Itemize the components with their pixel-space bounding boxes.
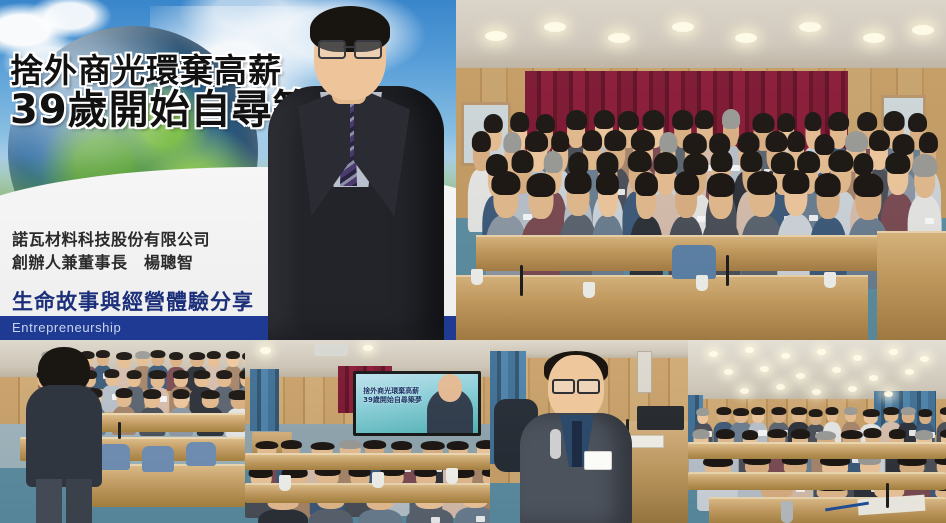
person-hair — [828, 112, 849, 131]
person-head — [116, 390, 131, 407]
person-head — [817, 178, 840, 219]
paper-cup-2 — [583, 282, 595, 298]
poster-panel: 捨外商光環棄高薪 39歲開始自尋築夢 諾瓦材料科技股份有限公司 創辦人兼董事長 … — [0, 0, 456, 340]
bl-chair-3 — [186, 442, 215, 466]
person-hair — [511, 112, 529, 131]
person-hair — [863, 409, 880, 417]
person-hair — [310, 442, 334, 451]
wall-switch-plate — [637, 351, 653, 393]
person-hair — [672, 110, 692, 129]
person-head — [697, 410, 709, 424]
person-hair — [421, 441, 445, 450]
name-badge — [431, 517, 440, 523]
person-hair — [149, 370, 166, 379]
br-bottle — [781, 501, 793, 523]
person-head — [902, 409, 915, 423]
person-hair — [525, 131, 548, 152]
side-desk — [877, 231, 946, 340]
person-hair — [226, 351, 240, 359]
guest-speaker-closeup — [516, 355, 636, 523]
person-hair — [752, 113, 774, 132]
person-head — [190, 353, 204, 367]
person-hair — [642, 110, 664, 129]
person-hair — [566, 110, 587, 129]
person-hair — [841, 430, 862, 440]
person-head — [128, 372, 141, 387]
person-head — [772, 409, 785, 423]
bottom-right-panel — [688, 340, 946, 523]
person-hair — [918, 409, 931, 417]
person-hair — [883, 111, 905, 130]
person-hair — [710, 150, 732, 172]
person-head — [784, 175, 807, 216]
person-head — [752, 409, 764, 423]
person-hair — [511, 150, 533, 172]
bottom-middle-panel: 捨外商光環棄高薪 39歲開始自尋築夢 — [245, 340, 490, 523]
person-hair — [596, 171, 619, 195]
desk-microphone-2 — [726, 255, 729, 286]
person-hair — [683, 133, 707, 154]
person-hair — [476, 440, 490, 449]
person-hair — [127, 370, 142, 379]
person-head — [528, 178, 553, 219]
person-hair — [116, 352, 132, 360]
paper-cup-3 — [696, 275, 708, 291]
person-head — [826, 408, 837, 422]
desk-microphone-1 — [520, 265, 523, 296]
person-hair — [143, 389, 161, 399]
br-desk-microphone — [886, 483, 889, 509]
person-head — [117, 354, 131, 368]
person-hair — [173, 370, 189, 379]
person-hair — [751, 407, 765, 415]
person-hair — [281, 440, 302, 449]
person-hair — [363, 440, 386, 449]
person-hair — [815, 431, 836, 441]
person-head — [174, 372, 188, 387]
person-head — [227, 353, 239, 367]
person-head — [864, 410, 878, 424]
person-hair — [742, 430, 758, 440]
person-hair — [169, 352, 183, 360]
speaker-role-name: 創辦人兼董事長 楊聰智 — [12, 251, 210, 274]
person-hair — [805, 112, 822, 131]
office-chair — [672, 245, 716, 279]
person-hair — [844, 407, 858, 415]
person-hair — [392, 441, 413, 450]
speaker-back-leg-right — [66, 479, 92, 523]
person-head — [105, 371, 118, 386]
person-hair — [491, 171, 520, 195]
person-head — [856, 178, 881, 219]
bottom-left-panel — [0, 340, 245, 523]
person-head — [792, 408, 806, 422]
person-head — [493, 176, 518, 217]
person-hair — [782, 170, 809, 194]
bm-paper-cup-1 — [279, 475, 291, 491]
person-hair — [256, 441, 278, 450]
person-hair — [565, 170, 592, 194]
person-hair — [193, 370, 211, 379]
portrait-glasses-icon — [318, 40, 382, 56]
person-hair — [115, 388, 132, 398]
footer-label: Entrepreneurship — [12, 320, 121, 335]
organization-name: 諾瓦材料科技股份有限公司 — [12, 228, 210, 251]
group-photo-panel — [456, 0, 946, 340]
photo-collage: 捨外商光環棄高薪 39歲開始自尋築夢 諾瓦材料科技股份有限公司 創辦人兼董事長 … — [0, 0, 946, 523]
person-head — [914, 159, 936, 198]
bm-paper-cup-3 — [446, 468, 458, 484]
person-hair — [594, 110, 615, 129]
person-head — [566, 175, 589, 216]
person-head — [709, 178, 733, 219]
name-badge — [476, 516, 485, 522]
person-body — [258, 509, 308, 523]
person-head — [144, 391, 160, 408]
person-head — [174, 391, 189, 408]
person-head — [887, 156, 908, 195]
person-hair — [206, 351, 220, 359]
speaker-back-view — [22, 347, 106, 523]
person-hair — [544, 151, 563, 173]
person-hair — [716, 429, 735, 439]
person-hair — [767, 429, 787, 439]
person-hair — [707, 173, 735, 197]
paper-cup-1 — [471, 269, 483, 285]
person-hair — [674, 171, 699, 195]
person-hair — [771, 407, 786, 415]
person-hair — [696, 408, 709, 416]
person-hair — [722, 109, 740, 128]
person-body — [309, 509, 353, 523]
person-hair — [908, 113, 927, 132]
person-hair — [216, 370, 232, 379]
person-hair — [883, 407, 899, 415]
poster-organization-block: 諾瓦材料科技股份有限公司 創辦人兼董事長 楊聰智 — [12, 228, 210, 274]
person-head — [217, 372, 231, 387]
person-hair — [889, 429, 905, 439]
person-hair — [901, 407, 916, 415]
person-hair — [740, 150, 762, 172]
person-hair — [940, 429, 946, 439]
person-hair — [940, 407, 946, 415]
podium-laptop — [637, 406, 685, 430]
person-hair — [618, 111, 639, 130]
person-hair — [869, 130, 890, 151]
person-hair — [104, 369, 119, 378]
person-head — [202, 392, 218, 409]
person-head — [717, 408, 730, 422]
person-hair — [526, 173, 555, 197]
person-hair — [173, 389, 190, 399]
person-hair — [472, 131, 491, 152]
person-hair — [695, 110, 714, 129]
person-head — [151, 352, 164, 366]
person-head — [194, 372, 209, 387]
person-head — [230, 392, 245, 409]
person-hair — [854, 153, 874, 175]
person-hair — [815, 173, 841, 197]
bl-desk-microphone — [118, 422, 121, 438]
person-hair — [912, 154, 937, 176]
person-hair — [484, 114, 503, 133]
person-head — [749, 175, 775, 216]
person-hair — [631, 130, 654, 151]
person-hair — [787, 131, 805, 152]
person-head — [845, 409, 857, 423]
person-hair — [551, 131, 569, 152]
person-hair — [733, 408, 749, 416]
bl-chair-2 — [142, 446, 174, 472]
person-hair — [447, 441, 469, 450]
name-badge — [925, 218, 934, 224]
person-hair — [150, 350, 165, 358]
person-hair — [659, 132, 677, 153]
speaker-name-badge — [584, 451, 612, 470]
person-head — [734, 409, 748, 423]
person-hair — [693, 429, 710, 439]
person-body — [359, 509, 403, 523]
person-body — [455, 507, 490, 523]
person-body — [406, 508, 454, 523]
person-head — [676, 176, 698, 217]
person-hair — [919, 132, 938, 153]
person-hair — [604, 130, 627, 151]
person-head — [919, 410, 930, 424]
paper-cup-4 — [824, 272, 836, 288]
person-head — [207, 353, 219, 367]
person-hair — [778, 113, 796, 132]
front-desk-row-2 — [456, 275, 868, 340]
person-hair — [857, 112, 878, 131]
person-hair — [808, 409, 823, 417]
person-hair — [915, 430, 934, 440]
speaker-glasses-icon — [552, 379, 600, 391]
person-hair — [747, 171, 777, 195]
speaker-tie — [572, 421, 582, 467]
speaker-back-torso — [26, 385, 102, 487]
bm-paper-cup-2 — [372, 472, 384, 488]
person-head — [170, 353, 182, 367]
person-hair — [854, 173, 883, 197]
person-head — [598, 176, 618, 217]
person-head — [884, 408, 898, 422]
br-desk-row-1 — [688, 442, 946, 459]
person-head — [809, 411, 822, 425]
person-head — [941, 409, 946, 423]
poster-tagline: 生命故事與經營體驗分享 — [12, 286, 254, 316]
person-hair — [825, 407, 838, 415]
bottom-speaker-panel — [490, 340, 688, 523]
person-hair — [201, 390, 220, 400]
speaker-portrait — [250, 0, 456, 340]
person-head — [636, 177, 656, 218]
handheld-microphone-icon — [550, 429, 561, 459]
person-hair — [864, 428, 882, 438]
person-hair — [635, 172, 658, 196]
person-hair — [791, 429, 810, 439]
br-desk-row-2 — [688, 472, 946, 490]
person-hair — [791, 407, 807, 415]
person-hair — [229, 390, 245, 400]
person-head — [150, 372, 165, 387]
person — [521, 178, 561, 287]
speaker-back-leg-left — [36, 479, 62, 523]
person-hair — [653, 152, 677, 174]
